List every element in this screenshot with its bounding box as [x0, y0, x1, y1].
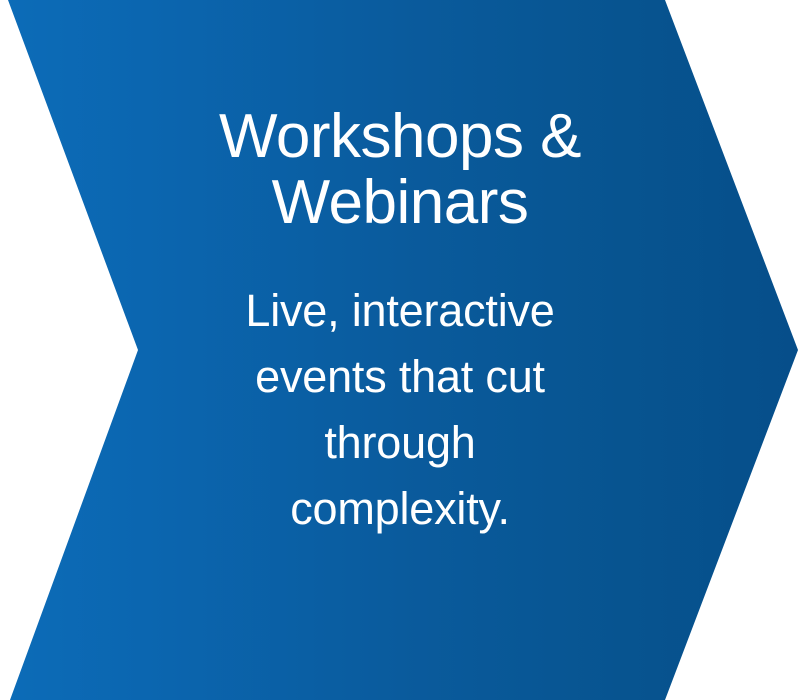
chevron-shape	[0, 0, 800, 700]
banner: Workshops & Webinars Live, interactive e…	[0, 0, 800, 700]
